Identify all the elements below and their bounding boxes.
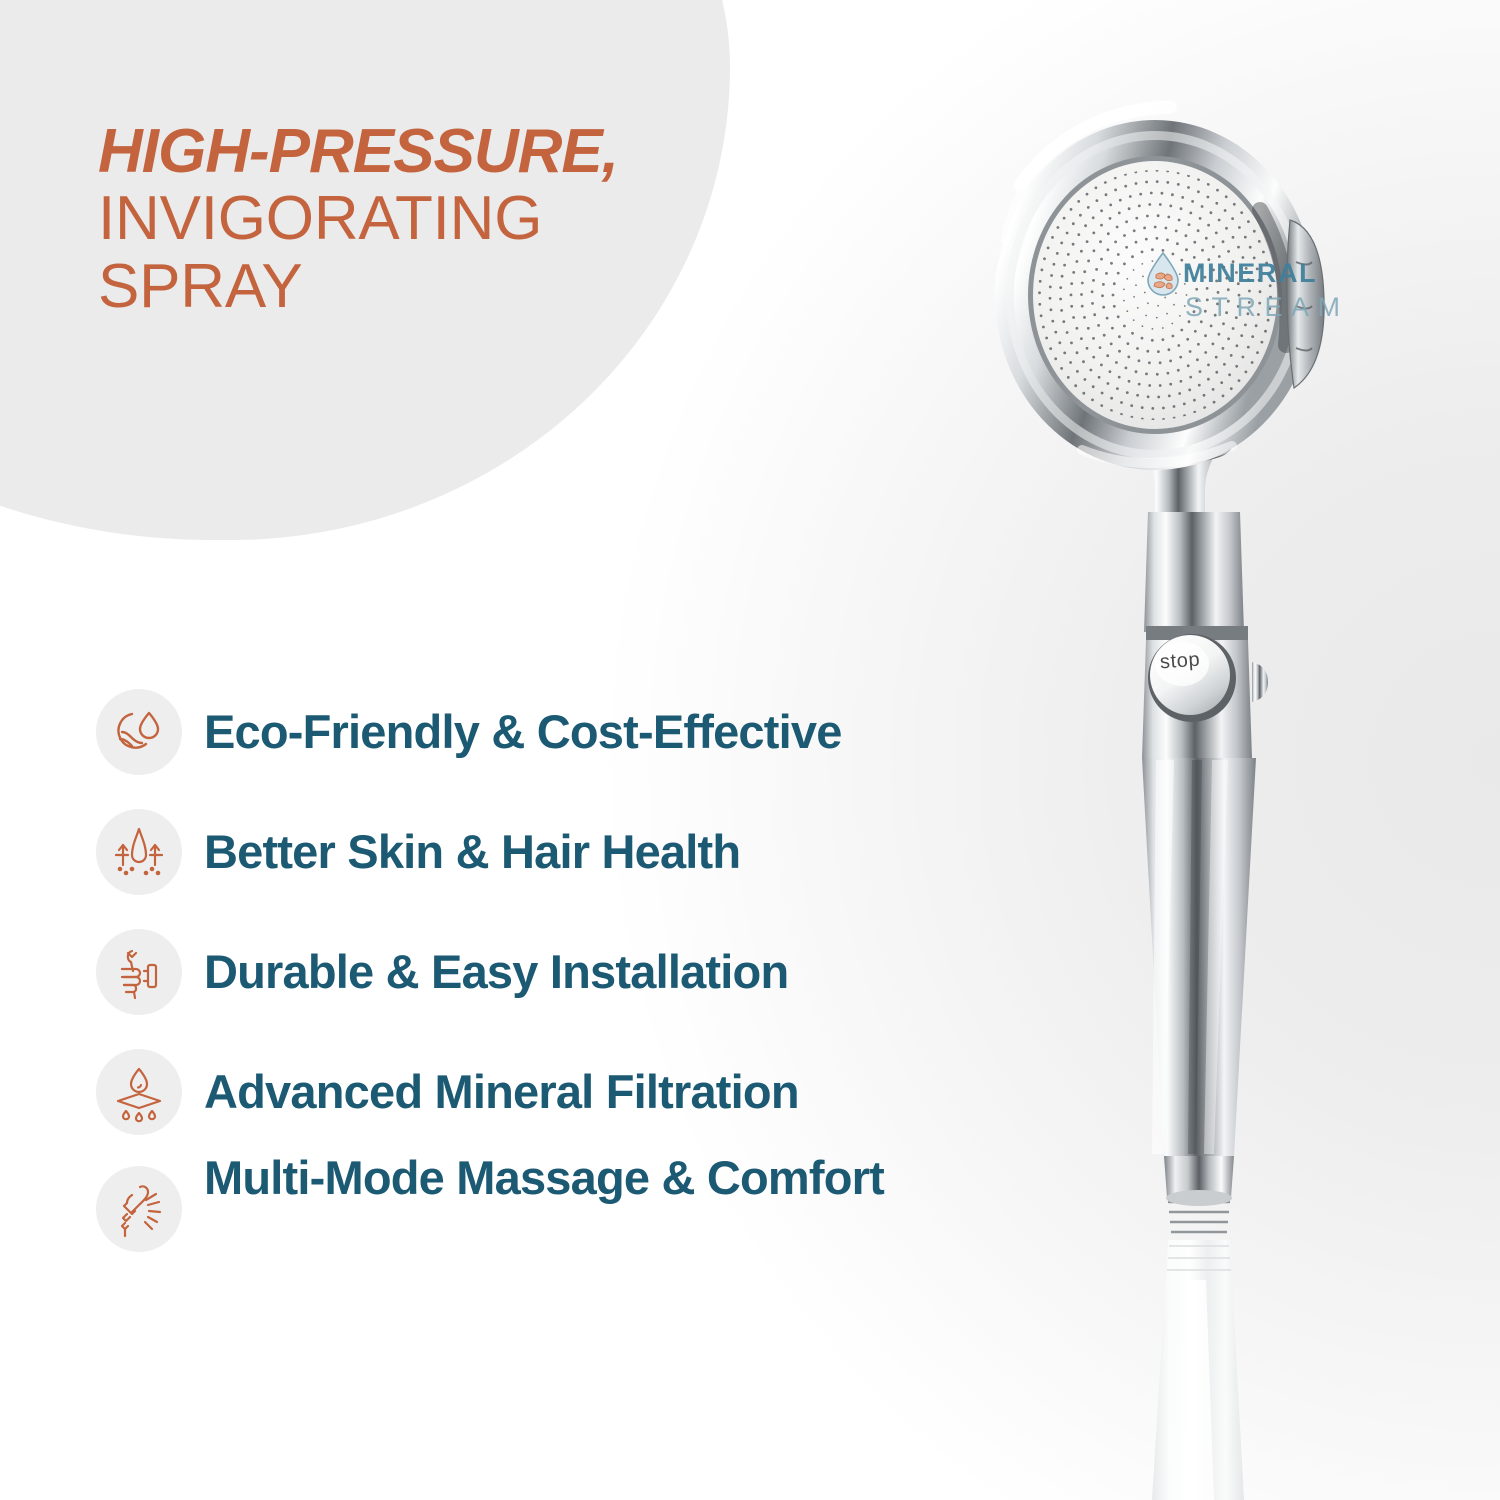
list-item-label: Durable & Easy Installation — [204, 946, 788, 999]
page-title: HIGH-PRESSURE, INVIGORATING SPRAY — [98, 118, 738, 320]
hand-water-drop-icon — [96, 689, 182, 775]
list-item: Better Skin & Hair Health — [96, 792, 1096, 912]
list-item: Advanced Mineral Filtration — [96, 1032, 1096, 1152]
infographic-canvas: HIGH-PRESSURE, INVIGORATING SPRAY Eco-Fr… — [0, 0, 1500, 1500]
headline-line-3: SPRAY — [98, 253, 738, 320]
shower-head-illustration — [960, 90, 1430, 1500]
list-item-label: Advanced Mineral Filtration — [204, 1066, 799, 1119]
list-item: Multi-Mode Massage & Comfort — [96, 1152, 1096, 1292]
stop-button-label[interactable]: stop — [1159, 649, 1201, 675]
product-image: MINERAL STREAM stop — [960, 90, 1430, 1500]
filtration-drop-icon — [96, 1049, 182, 1135]
handheld-shower-spray-icon — [96, 1166, 182, 1252]
feature-list: Eco-Friendly & Cost-Effective Better Ski… — [96, 672, 1096, 1292]
list-item: Durable & Easy Installation — [96, 912, 1096, 1032]
wrench-hand-icon — [96, 929, 182, 1015]
hair-follicle-arrows-icon — [96, 809, 182, 895]
headline-line-2: INVIGORATING — [98, 185, 738, 252]
headline-line-1: HIGH-PRESSURE, — [98, 118, 738, 185]
list-item: Eco-Friendly & Cost-Effective — [96, 672, 1096, 792]
list-item-label: Better Skin & Hair Health — [204, 826, 740, 879]
list-item-label: Eco-Friendly & Cost-Effective — [204, 706, 842, 759]
list-item-label: Multi-Mode Massage & Comfort — [204, 1152, 884, 1205]
